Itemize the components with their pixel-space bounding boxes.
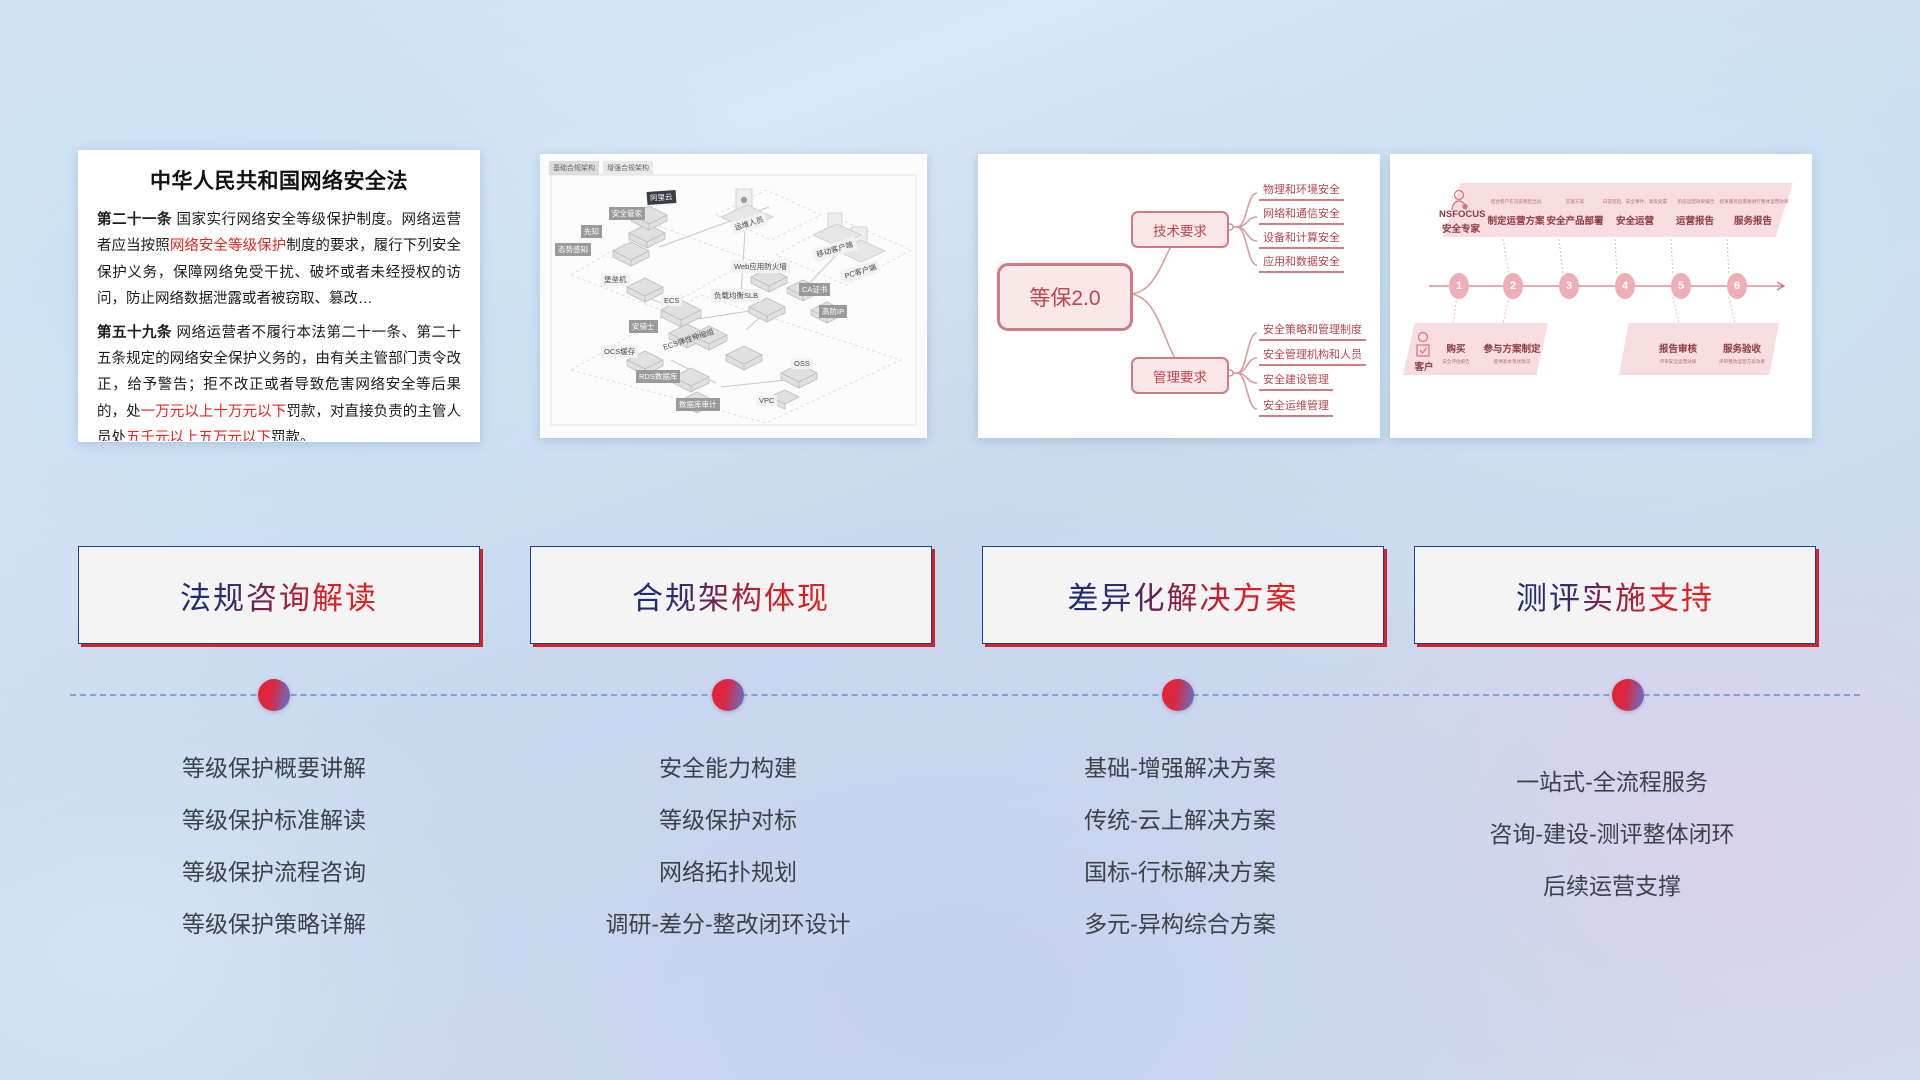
process-expert-brand: NSFOCUS [1439, 209, 1483, 220]
process-bottom-step-3: 报告审核 [1647, 341, 1709, 355]
list-item: 等级保护策略详解 [74, 898, 474, 950]
law-article-59-text-3: 罚款。 [271, 430, 315, 442]
arch-node-waf: Web应用防火墙 [731, 260, 790, 273]
list-item: 安全能力构建 [528, 742, 928, 794]
process-top-step-2: 安全产品部署 [1543, 213, 1607, 227]
architecture-tab-enhanced[interactable]: 增强合规架构 [603, 161, 653, 175]
arch-node-oss: OSS [791, 358, 813, 369]
timeline-dot-1[interactable] [258, 679, 290, 711]
list-item: 传统-云上解决方案 [980, 794, 1380, 846]
architecture-canvas: 基础合规架构 增强合规架构 阿里云 安全管家 先知 态势感知 堡垒机 ECS 安… [541, 155, 926, 437]
process-bottom-sub-3: 评审安全运营效果 [1647, 359, 1709, 365]
timeline-dashed-line [70, 694, 1860, 698]
mindmap-leaf-org-personnel: 安全管理机构和人员 [1259, 346, 1366, 366]
card-row: 中华人民共和国网络安全法 第二十一条 国家实行网络安全等级保护制度。网络运营者应… [0, 150, 1920, 440]
slide-canvas: 中华人民共和国网络安全法 第二十一条 国家实行网络安全等级保护制度。网络运营者应… [0, 0, 1920, 1080]
timeline-dot-4[interactable] [1612, 679, 1644, 711]
arch-node-security-butler: 安全管家 [609, 207, 645, 220]
mindmap-branch-management[interactable]: 管理要求 [1131, 357, 1229, 394]
process-bottom-sub-4: 评审整改运营方案效果 [1709, 359, 1775, 365]
mindmap-branch-technical[interactable]: 技术要求 [1131, 211, 1229, 248]
customer-person-icon [1417, 333, 1429, 357]
headline-label-2: 合规架构体现 [632, 573, 830, 618]
mindmap-leaf-network-comm: 网络和通信安全 [1259, 205, 1344, 225]
headline-button-assessment-support[interactable]: 测评实施支持 [1414, 546, 1816, 644]
process-bottom-step-4: 服务验收 [1711, 341, 1773, 355]
mindmap-root-node[interactable]: 等保2.0 [997, 263, 1133, 331]
list-item: 咨询-建设-测评整体闭环 [1412, 808, 1812, 860]
detail-column-1: 等级保护概要讲解 等级保护标准解读 等级保护流程咨询 等级保护策略详解 [74, 742, 474, 950]
arch-node-situation-awareness: 态势感知 [555, 243, 591, 256]
mindmap-leaf-construction-mgmt: 安全建设管理 [1259, 371, 1333, 391]
process-top-sub-1: 结合客户实况说明后出具 [1483, 199, 1549, 205]
process-number-2: 2 [1503, 273, 1523, 299]
headline-button-differentiated-solution[interactable]: 差异化解决方案 [982, 546, 1384, 644]
process-top-sub-5: 结束服务后需要进行整体运营效果 [1711, 199, 1797, 205]
mindmap-canvas: 等保2.0 技术要求 物理和环境安全 网络和通信安全 设备和计算安全 应用和数据… [979, 155, 1379, 437]
list-item: 等级保护流程咨询 [74, 846, 474, 898]
list-item: 等级保护对标 [528, 794, 928, 846]
headline-button-regulation-consulting[interactable]: 法规咨询解读 [78, 546, 480, 644]
process-canvas: 1 2 3 4 5 6 NSFOCUS 安全专家 结合客户实况说明后出具 制定运… [1391, 155, 1811, 437]
arch-node-ca-cert: CA证书 [799, 283, 830, 296]
law-article-21: 第二十一条 国家实行网络安全等级保护制度。网络运营者应当按照网络安全等级保护制度… [97, 207, 461, 313]
process-expert-role: 安全专家 [1439, 221, 1483, 235]
expert-person-icon [1452, 191, 1467, 211]
list-item: 多元-异构综合方案 [980, 898, 1380, 950]
arch-node-slb: 负载均衡SLB [711, 289, 761, 302]
law-article-21-highlight: 网络安全等级保护 [170, 238, 287, 254]
mindmap-leaf-ops-mgmt: 安全运维管理 [1259, 397, 1333, 417]
list-item: 后续运营支撑 [1412, 860, 1812, 912]
detail-list-row: 等级保护概要讲解 等级保护标准解读 等级保护流程咨询 等级保护策略详解 安全能力… [0, 742, 1920, 962]
mindmap-leaf-device-compute: 设备和计算安全 [1259, 229, 1344, 249]
list-item: 网络拓扑规划 [528, 846, 928, 898]
arch-node-rds-db: RDS数据库 [636, 370, 680, 383]
timeline-dot-3[interactable] [1162, 679, 1194, 711]
list-item: 基础-增强解决方案 [980, 742, 1380, 794]
process-bottom-step-2: 参与方案制定 [1479, 341, 1545, 355]
arch-node-xianzhi: 先知 [581, 225, 602, 238]
arch-node-anti-ddos-ip: 高防IP [819, 305, 847, 318]
list-item: 国标-行标解决方案 [980, 846, 1380, 898]
process-bottom-step-1: 购买 [1437, 341, 1475, 355]
law-article-59-highlight-2: 五千元以上五万元以下 [126, 430, 271, 442]
headline-row: 法规咨询解读 合规架构体现 差异化解决方案 测评实施支持 [0, 546, 1920, 646]
arch-node-db-audit: 数据库审计 [676, 398, 720, 411]
process-top-step-3: 安全运营 [1603, 213, 1667, 227]
law-body: 第二十一条 国家实行网络安全等级保护制度。网络运营者应当按照网络安全等级保护制度… [79, 207, 479, 442]
process-number-3: 3 [1559, 273, 1579, 299]
timeline-dot-2[interactable] [712, 679, 744, 711]
process-top-step-4: 运营报告 [1665, 213, 1725, 227]
law-article-59-highlight-1: 一万元以上十万元以下 [141, 404, 287, 420]
process-number-5: 5 [1671, 273, 1691, 299]
process-top-step-1: 制定运营方案 [1483, 213, 1549, 227]
detail-column-4: 一站式-全流程服务 咨询-建设-测评整体闭环 后续运营支撑 [1412, 756, 1812, 912]
law-article-59: 第五十九条 网络运营者不履行本法第二十一条、第二十五条规定的网络安全保护义务的，… [97, 320, 461, 443]
card-process-timeline[interactable]: 1 2 3 4 5 6 NSFOCUS 安全专家 结合客户实况说明后出具 制定运… [1390, 154, 1812, 438]
card-architecture-diagram[interactable]: 基础合规架构 增强合规架构 阿里云 安全管家 先知 态势感知 堡垒机 ECS 安… [540, 154, 927, 438]
arch-node-ecs: ECS [661, 295, 682, 306]
arch-node-ocs-cache: OCS缓存 [601, 345, 638, 358]
list-item: 等级保护标准解读 [74, 794, 474, 846]
detail-column-2: 安全能力构建 等级保护对标 网络拓扑规划 调研-差分-整改闭环设计 [528, 742, 928, 950]
architecture-tab-basic[interactable]: 基础合规架构 [549, 161, 599, 175]
card-law-text[interactable]: 中华人民共和国网络安全法 第二十一条 国家实行网络安全等级保护制度。网络运营者应… [78, 150, 480, 442]
process-top-step-5: 服务报告 [1723, 213, 1783, 227]
card-mindmap[interactable]: 等保2.0 技术要求 物理和环境安全 网络和通信安全 设备和计算安全 应用和数据… [978, 154, 1380, 438]
headline-label-3: 差异化解决方案 [1068, 573, 1299, 618]
process-top-sub-2: 实施方案 [1547, 199, 1603, 205]
mindmap-leaf-policy-system: 安全策略和管理制度 [1259, 321, 1366, 341]
arch-node-anqishi: 安骑士 [629, 320, 658, 333]
law-article-59-label: 第五十九条 [97, 325, 172, 341]
list-item: 调研-差分-整改闭环设计 [528, 898, 928, 950]
arch-node-aliyun: 阿里云 [647, 190, 676, 205]
list-item: 一站式-全流程服务 [1412, 756, 1812, 808]
process-number-4: 4 [1615, 273, 1635, 299]
process-number-6: 6 [1727, 273, 1747, 299]
headline-button-compliance-architecture[interactable]: 合规架构体现 [530, 546, 932, 644]
process-number-1: 1 [1449, 273, 1469, 299]
headline-label-1: 法规咨询解读 [180, 573, 378, 618]
architecture-tab-group[interactable]: 基础合规架构 增强合规架构 [549, 161, 653, 175]
detail-column-3: 基础-增强解决方案 传统-云上解决方案 国标-行标解决方案 多元-异构综合方案 [980, 742, 1380, 950]
arch-node-bastion-host: 堡垒机 [601, 273, 630, 286]
process-bottom-sub-2: 提供基本现状情况 [1483, 359, 1541, 365]
law-article-21-label: 第二十一条 [97, 212, 172, 228]
arch-node-vpc: VPC [756, 395, 777, 406]
process-bottom-sub-1: 安全评估报告 [1433, 359, 1479, 365]
law-title: 中华人民共和国网络安全法 [79, 165, 479, 195]
list-item: 等级保护概要讲解 [74, 742, 474, 794]
mindmap-leaf-physical-env: 物理和环境安全 [1259, 181, 1344, 201]
headline-label-4: 测评实施支持 [1516, 573, 1714, 618]
mindmap-leaf-app-data: 应用和数据安全 [1259, 253, 1344, 273]
